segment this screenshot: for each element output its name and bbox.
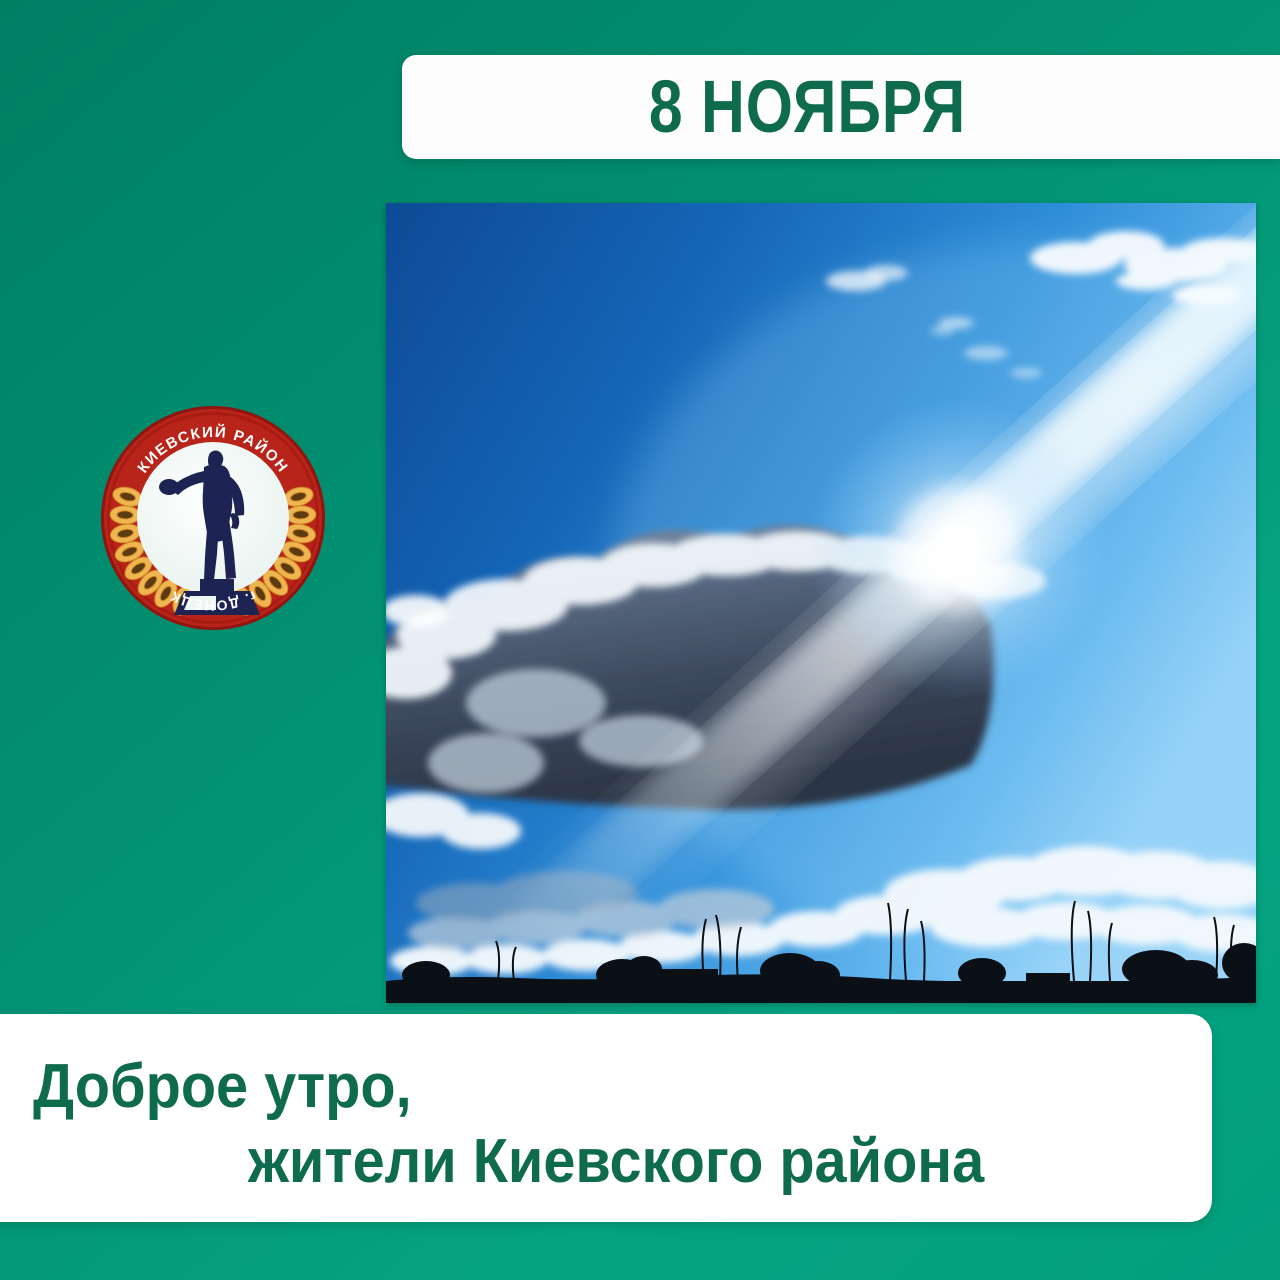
sky-photo <box>386 203 1256 1003</box>
poster-canvas: 8 НОЯБРЯ <box>0 0 1280 1280</box>
date-banner: 8 НОЯБРЯ <box>402 55 1280 159</box>
sun-flare <box>808 398 1108 698</box>
greeting-line-1: Доброе утро, <box>33 1056 412 1118</box>
greeting-line-2: жители Киевского района <box>248 1131 984 1193</box>
greeting-panel: Доброе утро, жители Киевского района <box>0 1014 1212 1222</box>
date-text: 8 НОЯБРЯ <box>648 70 965 144</box>
emblem: КИЕВСКИЙ РАЙОН г. ДОНЕЦК <box>100 405 326 631</box>
